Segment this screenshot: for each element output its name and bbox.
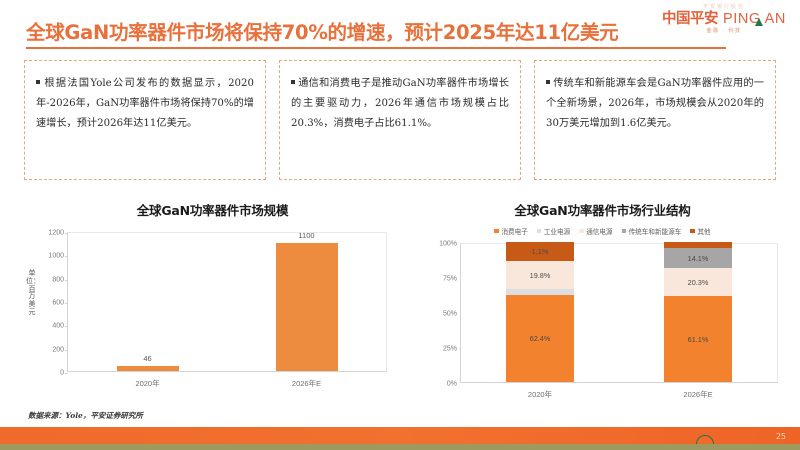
legend-label: 其他 <box>697 226 710 236</box>
legend-label: 传统车和新能源车 <box>629 226 682 236</box>
chart-market-size-value-label: 46 <box>143 354 151 363</box>
brand-tagline: 金融 · 科技 <box>662 29 786 34</box>
chart-market-size-tickmark <box>65 373 68 374</box>
chart-industry-structure-segment: 20.3% <box>664 268 732 296</box>
chart-market-size-yaxis-label: 单位：百万美元 <box>26 270 38 317</box>
chart-market-size-xtick: 2026年E <box>292 378 321 389</box>
chart-industry-structure-stack: 14.1%20.3%61.1% <box>664 242 732 382</box>
callout-card-automotive: 传统车和新能源车会是GaN功率器件应用的一个全新场景，2026年，市场规模会从2… <box>534 60 776 180</box>
chart-market-size-title: 全球GaN功率器件市场规模 <box>20 200 405 219</box>
chart-market-size-ytick: 1200 <box>48 230 64 237</box>
chart-market-size-plot: 020040060080010001200462020年11002026年E <box>67 232 387 372</box>
legend-label: 工业电源 <box>544 226 570 236</box>
legend-swatch-icon <box>622 229 627 234</box>
page-title: 全球GaN功率器件市场将保持70%的增速，预计2025年达11亿美元 <box>26 16 618 45</box>
callout-card-row: 根据法国Yole公司发布的数据显示，2020年-2026年，GaN功率器件市场将… <box>24 60 776 180</box>
chart-market-size-area: 单位：百万美元 020040060080010001200462020年1100… <box>20 228 405 393</box>
pingan-logo: 平安银行股份 中国平安 PING AN 金融 · 科技 <box>662 5 786 34</box>
source-note: 数据来源：Yole，平安证券研究所 <box>28 410 143 421</box>
chart-market-size-xtick: 2020年 <box>135 378 159 389</box>
chart-market-size-tickmark <box>65 256 68 257</box>
chart-industry-structure-stack: 1.1%19.8%62.4% <box>506 242 574 382</box>
legend-swatch-icon <box>537 229 542 234</box>
chart-industry-structure-legend-item[interactable]: 传统车和新能源车 <box>622 226 682 236</box>
chart-market-size-bar <box>276 243 338 371</box>
callout-card-body: 传统车和新能源车会是GaN功率器件应用的一个全新场景，2026年，市场规模会从2… <box>546 78 764 129</box>
segment-value-label: 14.1% <box>688 254 709 263</box>
legend-label: 消费电子 <box>501 226 527 236</box>
chart-industry-structure-segment: 14.1% <box>664 248 732 268</box>
brand-triangle-icon <box>755 18 763 26</box>
callout-card-text: 根据法国Yole公司发布的数据显示，2020年-2026年，GaN功率器件市场将… <box>36 74 254 134</box>
chart-industry-structure-ytick: 25% <box>443 346 457 353</box>
chart-industry-structure-segment: 1.1% <box>506 242 574 261</box>
chart-industry-structure-segment: 19.8% <box>506 261 574 289</box>
slide-root: 全球GaN功率器件市场将保持70%的增速，预计2025年达11亿美元 平安银行股… <box>0 0 800 450</box>
slide-header: 全球GaN功率器件市场将保持70%的增速，预计2025年达11亿美元 平安银行股… <box>0 0 800 52</box>
segment-value-label: 1.1% <box>532 247 549 256</box>
brand-wordmark: 中国平安 PING AN <box>662 12 786 27</box>
chart-market-size-tickmark <box>65 233 68 234</box>
legend-swatch-icon <box>579 229 584 234</box>
chart-industry-structure-xtick: 2020年 <box>528 389 552 400</box>
chart-industry-structure-ytick: 50% <box>443 311 457 318</box>
chart-industry-structure: 全球GaN功率器件市场行业结构 消费电子工业电源通信电源传统车和新能源车其他 0… <box>415 200 790 415</box>
chart-market-size-ytick: 0 <box>60 370 64 377</box>
chart-industry-structure-legend-item[interactable]: 工业电源 <box>537 226 570 236</box>
callout-card-body: 通信和消费电子是推动GaN功率器件市场增长的主要驱动力，2026年通信市场规模占… <box>291 78 509 129</box>
chart-market-size-bar <box>117 366 179 371</box>
chart-market-size-ytick: 200 <box>52 346 64 353</box>
brand-name-cn: 中国平安 <box>662 12 718 27</box>
chart-industry-structure-title: 全球GaN功率器件市场行业结构 <box>415 200 790 219</box>
chart-market-size-tickmark <box>65 280 68 281</box>
callout-card-growth-drivers: 通信和消费电子是推动GaN功率器件市场增长的主要驱动力，2026年通信市场规模占… <box>279 60 521 180</box>
chart-market-size-ytick: 400 <box>52 323 64 330</box>
bullet-square-icon <box>36 80 40 84</box>
chart-industry-structure-xtick: 2026年E <box>683 389 712 400</box>
segment-value-label: 19.8% <box>530 271 551 280</box>
chart-industry-structure-legend-item[interactable]: 通信电源 <box>579 226 612 236</box>
bullet-square-icon <box>546 80 550 84</box>
chart-market-size-tickmark <box>65 350 68 351</box>
footer-bar <box>0 427 800 444</box>
callout-card-text: 传统车和新能源车会是GaN功率器件应用的一个全新场景，2026年，市场规模会从2… <box>546 74 764 134</box>
brand-name-en: PING AN <box>723 12 786 27</box>
legend-swatch-icon <box>690 229 695 234</box>
chart-industry-structure-segment: 61.1% <box>664 296 732 382</box>
legend-swatch-icon <box>494 229 499 234</box>
chart-market-size-ytick: 800 <box>52 276 64 283</box>
chart-market-size-value-label: 1100 <box>298 231 314 240</box>
chart-industry-structure-legend-item[interactable]: 其他 <box>690 226 710 236</box>
callout-card-text: 通信和消费电子是推动GaN功率器件市场增长的主要驱动力，2026年通信市场规模占… <box>291 74 509 134</box>
legend-label: 通信电源 <box>586 226 612 236</box>
callout-card-body: 根据法国Yole公司发布的数据显示，2020年-2026年，GaN功率器件市场将… <box>36 78 254 129</box>
page-number: 25 <box>776 432 786 441</box>
chart-industry-structure-segment: 62.4% <box>506 295 574 382</box>
callout-card-yole-forecast: 根据法国Yole公司发布的数据显示，2020年-2026年，GaN功率器件市场将… <box>24 60 266 180</box>
title-divider <box>26 47 726 49</box>
chart-industry-structure-ytick: 0% <box>447 381 457 388</box>
segment-value-label: 61.1% <box>688 335 709 344</box>
chart-industry-structure-legend: 消费电子工业电源通信电源传统车和新能源车其他 <box>415 226 790 236</box>
segment-value-label: 62.4% <box>530 334 551 343</box>
chart-market-size-tickmark <box>65 303 68 304</box>
chart-industry-structure-plot: 0%25%50%75%100%1.1%19.8%62.4%2020年14.1%2… <box>460 243 778 383</box>
chart-industry-structure-ytick: 100% <box>439 241 457 248</box>
chart-market-size-tickmark <box>65 326 68 327</box>
bullet-square-icon <box>291 80 295 84</box>
chart-market-size: 全球GaN功率器件市场规模 单位：百万美元 020040060080010001… <box>20 200 405 415</box>
chart-market-size-ytick: 1000 <box>48 253 64 260</box>
chart-market-size-ytick: 600 <box>52 300 64 307</box>
footer-olive-strip <box>0 444 800 450</box>
segment-value-label: 20.3% <box>688 278 709 287</box>
chart-industry-structure-legend-item[interactable]: 消费电子 <box>494 226 527 236</box>
chart-industry-structure-ytick: 75% <box>443 276 457 283</box>
